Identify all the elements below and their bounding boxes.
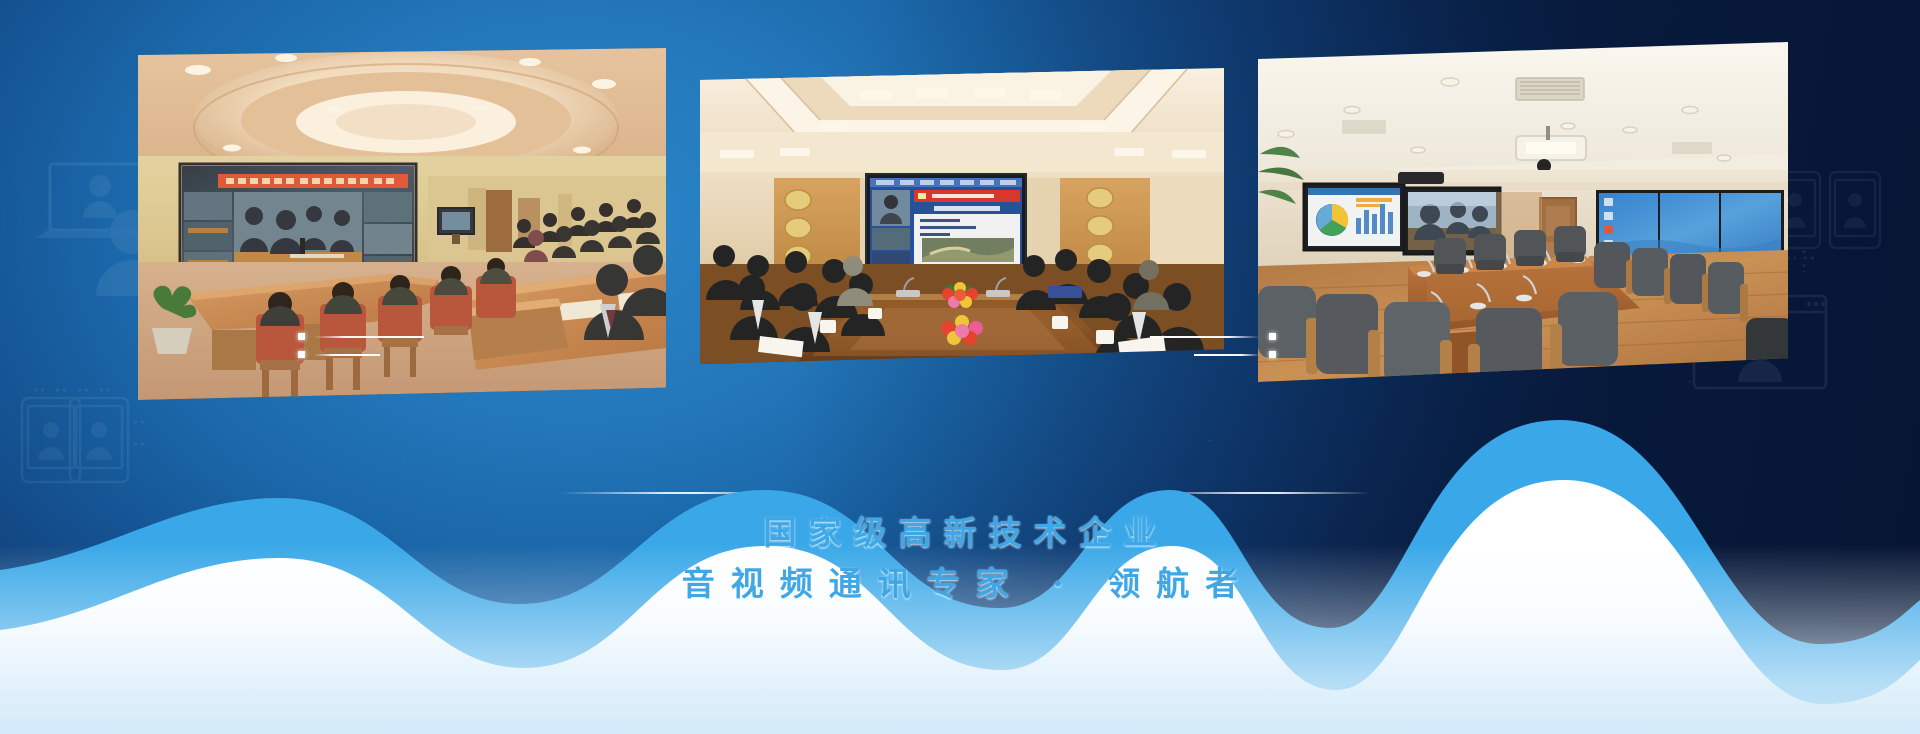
decor-line-short (1194, 354, 1260, 356)
decor-line-long (1150, 336, 1260, 338)
decor-rule-row (298, 333, 424, 340)
decor-rule-row (298, 351, 424, 358)
square-marker-icon (298, 351, 305, 358)
conference-room-photo-3[interactable] (1258, 42, 1788, 382)
square-marker-icon (1269, 333, 1276, 340)
conference-room-photo-2[interactable] (700, 68, 1224, 364)
decor-rules-right (1150, 333, 1276, 358)
slogan-line-1: 国家级高新技术企业 (0, 515, 1920, 551)
photo-2-artwork (700, 68, 1224, 364)
decor-rules-left (298, 333, 424, 358)
photo-3-artwork (1258, 42, 1788, 382)
slogan-block: 国家级高新技术企业 音视频通讯专家 · 领航者 (0, 515, 1920, 602)
hero-banner: 国家级高新技术企业 音视频通讯专家 · 领航者 (0, 0, 1920, 734)
decor-rule-row (1150, 333, 1276, 340)
decor-rule-row (1194, 351, 1276, 358)
square-marker-icon (298, 333, 305, 340)
slogan-line-2: 音视频通讯专家 · 领航者 (0, 566, 1920, 602)
decor-line-long (314, 336, 424, 338)
decor-line-short (314, 354, 380, 356)
square-marker-icon (1269, 351, 1276, 358)
